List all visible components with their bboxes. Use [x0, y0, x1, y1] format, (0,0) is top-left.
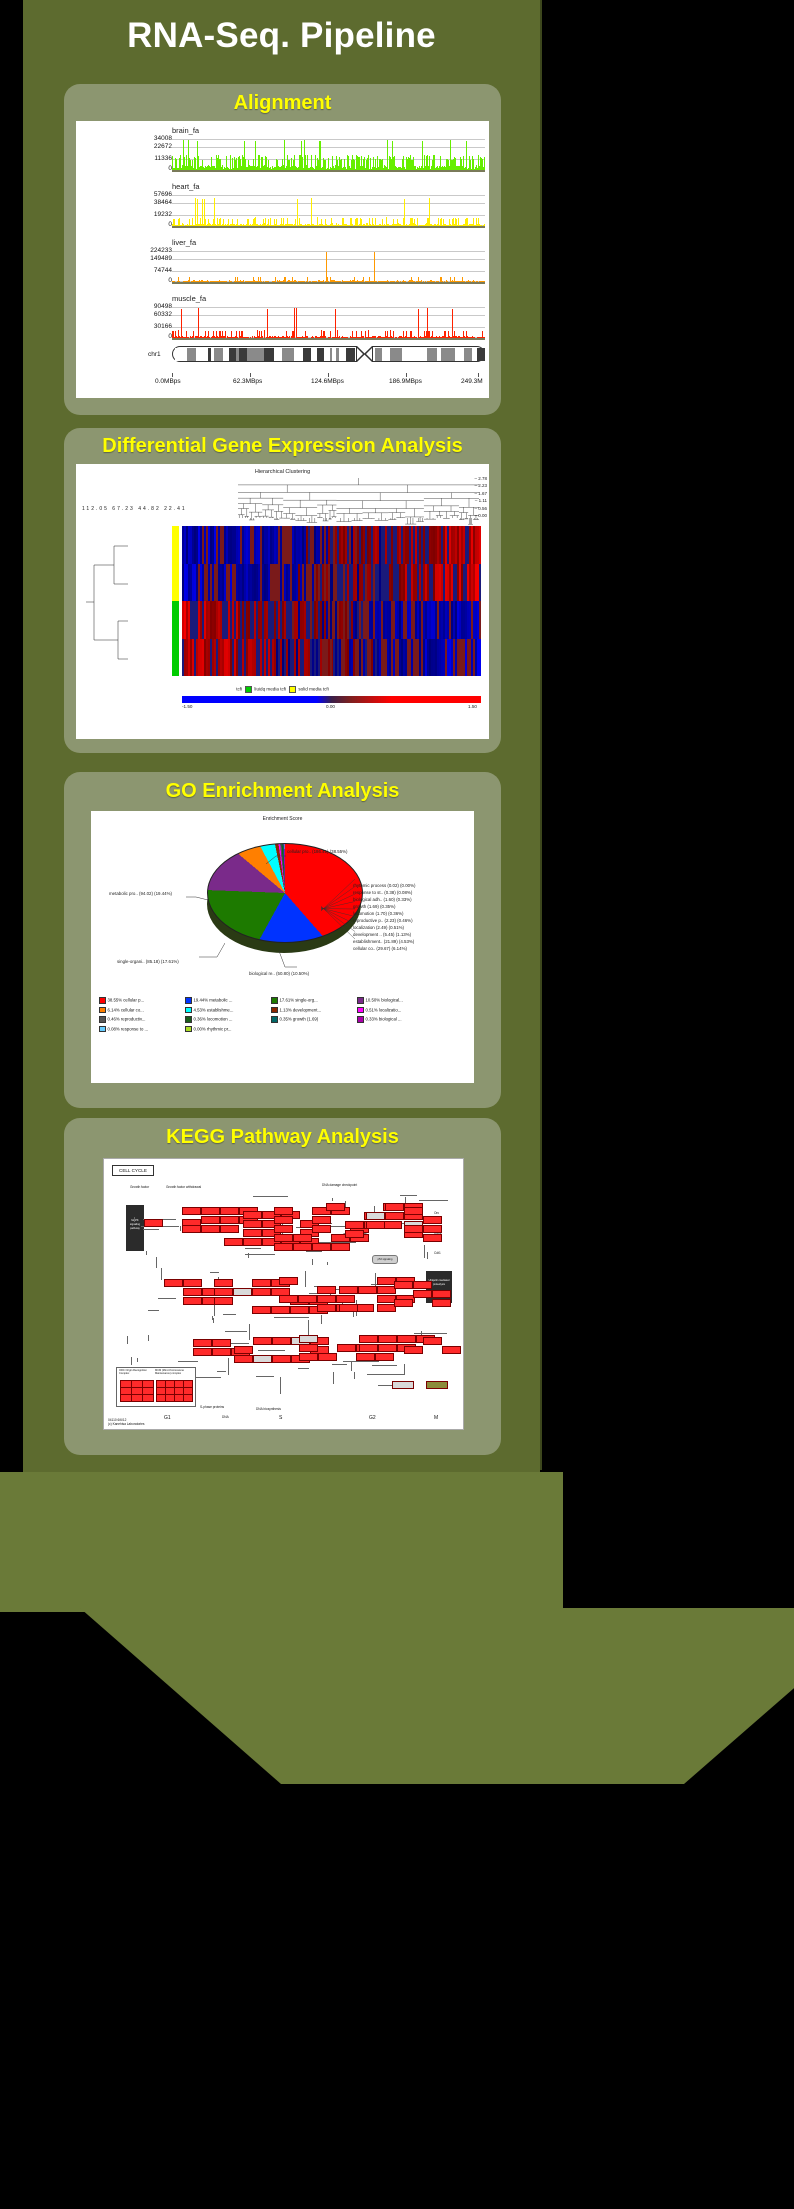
- ideogram-band: [420, 348, 427, 361]
- pie-slice-label: locomotion (1.70) (0.36%): [353, 911, 404, 916]
- pie-slice-label: rhythmic process (0.02) (0.00%): [353, 883, 415, 888]
- pie-slice-label: response to st.. (0.38) (0.08%): [353, 890, 412, 895]
- pie-slice-label: reproductive p.. (2.23) (0.46%): [353, 918, 413, 923]
- axis-tick: [406, 373, 407, 377]
- cellcycle-phase-label: G1: [164, 1415, 171, 1421]
- heatmap-cell: [479, 526, 481, 564]
- pie-slice-label: metabolic pro.. (94.02) (19.44%): [109, 891, 172, 896]
- kegg-gene-node[interactable]: [193, 1339, 212, 1347]
- legend-label: 1.13% development...: [280, 1007, 322, 1012]
- axis-tick: [328, 373, 329, 377]
- kegg-gene-node[interactable]: [383, 1221, 402, 1229]
- pie-slice-label: development .. (5.45) (1.13%): [353, 932, 411, 937]
- legend-label: 0.08% response to ...: [108, 1026, 149, 1031]
- cellcycle-phase-label: M: [434, 1415, 438, 1421]
- heatmap-cell: [479, 564, 481, 602]
- orc-legend-label: ORC Origin Recognition Complex: [119, 1369, 153, 1376]
- kegg-gene-node[interactable]: [274, 1216, 293, 1224]
- dendrogram-scale: – 2.78– 2.23– 1.67– 1.11– 0.56– 0.00: [449, 476, 487, 520]
- legend-item: 17.61% single-org...: [271, 997, 357, 1004]
- coverage-bar: [452, 309, 453, 339]
- kegg-gene-node[interactable]: [423, 1216, 442, 1224]
- group-swatch-solid: [172, 526, 179, 601]
- ideogram-band: [274, 348, 282, 361]
- kegg-gene-node[interactable]: [326, 1203, 345, 1211]
- axis-tick-label: 224233: [150, 247, 172, 254]
- kegg-gene-node[interactable]: [252, 1279, 271, 1287]
- coverage-bar: [311, 198, 312, 226]
- legend-swatch: [245, 686, 252, 693]
- kegg-gene-node[interactable]: [144, 1219, 163, 1227]
- heatmap-row: [182, 526, 481, 564]
- kegg-gene-node[interactable]: [220, 1216, 239, 1224]
- pathway-annotation: DNA: [222, 1415, 229, 1419]
- kegg-gene-node[interactable]: [339, 1286, 358, 1294]
- kegg-gene-node[interactable]: [233, 1288, 252, 1296]
- legend-swatch: [271, 1016, 278, 1023]
- kegg-gene-node[interactable]: [183, 1288, 202, 1296]
- pie-leader-lines: [321, 873, 357, 957]
- ideogram-band: [410, 348, 420, 361]
- legend-label: 6.14% cellular co...: [108, 1007, 144, 1012]
- kegg-gene-node[interactable]: [359, 1335, 378, 1343]
- legend-swatch: [357, 997, 364, 1004]
- kegg-gene-node[interactable]: [274, 1207, 293, 1215]
- kegg-gene-node[interactable]: [312, 1216, 331, 1224]
- kegg-gene-node[interactable]: [193, 1348, 212, 1356]
- ideogram-band: [252, 348, 259, 361]
- coverage-bar: [230, 155, 231, 170]
- pie-legend: 38.55% cellular p...19.44% metabolic ...…: [99, 997, 459, 1035]
- heatmap-legend: tcfi liuidq media tcfi solid media tcfi: [76, 686, 489, 693]
- ideogram-band: [284, 348, 292, 361]
- chromosome-label: chr1: [148, 351, 161, 358]
- axis-tick-label: 22672: [154, 143, 172, 150]
- axis-tick-label: 34008: [154, 135, 172, 142]
- kegg-gene-node[interactable]: [252, 1306, 271, 1314]
- heatmap-cell: [479, 639, 481, 677]
- legend-swatch: [99, 1007, 106, 1014]
- coverage-bars: [172, 195, 485, 226]
- coverage-track-heart-fa: heart_fa5769638464192320: [76, 183, 489, 231]
- ideogram-band: [441, 348, 451, 361]
- coverage-bars: [172, 139, 485, 170]
- kegg-gene-node[interactable]: [317, 1286, 336, 1294]
- legend-item: 19.44% metabolic ...: [185, 997, 271, 1004]
- heatmap-cell: [479, 601, 481, 639]
- pathway-annotation: DNA damage checkpoint: [322, 1183, 357, 1187]
- legend-label: 0.00% rhythmic pr...: [194, 1026, 232, 1031]
- kegg-gene-node[interactable]: [293, 1243, 312, 1251]
- ideogram-band: [214, 348, 223, 361]
- kegg-gene-node[interactable]: [336, 1295, 355, 1303]
- legend-item: 1.13% development...: [271, 1007, 357, 1014]
- pie-title: Enrichment Score: [91, 816, 474, 822]
- kegg-gene-node[interactable]: [404, 1225, 423, 1233]
- kegg-gene-node[interactable]: [331, 1243, 350, 1251]
- leader-line: [186, 889, 208, 897]
- kegg-gene-node[interactable]: [290, 1306, 309, 1314]
- section-title-go: GO Enrichment Analysis: [64, 780, 501, 803]
- coverage-bar: [214, 198, 215, 226]
- cellcycle-phase-label: S: [279, 1415, 282, 1421]
- group-swatch-liquid: [172, 601, 179, 676]
- ideogram-band: [303, 348, 311, 361]
- coverage-bars: [172, 251, 485, 282]
- pie-slice-label: single-organi.. (85.18) (17.61%): [117, 959, 179, 964]
- ideogram-band: [339, 348, 346, 361]
- track-baseline: [172, 226, 485, 228]
- kegg-gene-node[interactable]: [243, 1238, 262, 1246]
- alignment-plot: brain_fa3400822672113360heart_fa57696384…: [76, 121, 489, 398]
- kegg-gene-node[interactable]: [337, 1344, 356, 1352]
- kegg-gene-node[interactable]: [413, 1281, 432, 1289]
- legend-label: tcfi: [236, 687, 243, 692]
- ideogram-band: [393, 348, 402, 361]
- ideogram-band: [427, 348, 437, 361]
- kegg-gene-node[interactable]: [404, 1207, 423, 1215]
- dge-heatmap-plot: Hierarchical Clustering– 2.78– 2.23– 1.6…: [76, 464, 489, 739]
- colorbar-tick: 0.00: [326, 704, 335, 709]
- axis-tick: [172, 373, 173, 377]
- legend-item: 0.33% biological ...: [357, 1016, 443, 1023]
- kegg-gene-node[interactable]: [359, 1344, 378, 1352]
- kegg-gene-node[interactable]: [271, 1306, 290, 1314]
- pie-slice-label: biological re.. (50.80) (10.50%): [249, 971, 309, 976]
- section-go: GO Enrichment Analysis Enrichment Scorec…: [64, 772, 501, 1108]
- axis-tick-label: 149489: [150, 255, 172, 262]
- legend-item: 0.36% locomotion ...: [185, 1016, 271, 1023]
- axis-tick-label: 38464: [154, 199, 172, 206]
- legend-item: 0.00% rhythmic pr...: [185, 1026, 271, 1033]
- legend-item: 0.46% reproductiv...: [99, 1016, 185, 1023]
- scale-tick: – 0.00: [474, 513, 487, 518]
- kegg-gene-node[interactable]: [234, 1355, 253, 1363]
- axis-tick: [250, 373, 251, 377]
- kegg-gene-node[interactable]: [214, 1279, 233, 1287]
- kegg-gene-node[interactable]: [183, 1279, 202, 1287]
- kegg-gene-node[interactable]: [201, 1225, 220, 1233]
- kegg-gene-node[interactable]: [366, 1221, 385, 1229]
- kegg-gene-node[interactable]: [423, 1337, 442, 1345]
- kegg-gene-node[interactable]: [220, 1207, 239, 1215]
- heatmap-row-scale: 112.05 67.23 44.82 22.41: [82, 506, 187, 512]
- heatmap-grid: [182, 526, 481, 676]
- kegg-gene-node[interactable]: [394, 1299, 413, 1307]
- scale-tick: – 2.78: [474, 476, 487, 481]
- pie-slice-label: biological adh.. (1.60) (0.33%): [353, 897, 412, 902]
- legend-item: 0.35% growth (1.69): [271, 1016, 357, 1023]
- kegg-gene-node[interactable]: [212, 1348, 231, 1356]
- coverage-bar: [181, 309, 182, 339]
- kegg-gene-node[interactable]: [272, 1337, 291, 1345]
- arrow-wing-full: [0, 1472, 563, 1612]
- kegg-gene-node[interactable]: [299, 1353, 318, 1361]
- track-label: heart_fa: [172, 182, 200, 191]
- kegg-gene-node[interactable]: [182, 1225, 201, 1233]
- track-baseline: [172, 338, 485, 340]
- kegg-gene-node[interactable]: [397, 1335, 416, 1343]
- ideogram-band: [477, 348, 485, 361]
- axis-tick-label: 11336: [154, 155, 172, 162]
- pathway-link-box[interactable]: p53 signaling pathway: [372, 1255, 398, 1264]
- legend-swatch: [289, 686, 296, 693]
- kegg-gene-node[interactable]: [442, 1346, 461, 1354]
- kegg-gene-node[interactable]: [183, 1394, 193, 1402]
- coverage-bar: [466, 141, 467, 170]
- pathway-annotation: S-phase proteins: [200, 1405, 224, 1409]
- kegg-gene-node[interactable]: [224, 1238, 243, 1246]
- coverage-bar: [255, 141, 256, 171]
- coverage-bar: [374, 252, 375, 282]
- ideogram-band: [455, 348, 464, 361]
- legend-label: 0.33% biological ...: [366, 1016, 402, 1021]
- kegg-gene-node[interactable]: [243, 1229, 262, 1237]
- kegg-gene-node[interactable]: [214, 1288, 233, 1296]
- heatmap-row: [182, 639, 481, 677]
- legend-swatch: [99, 1016, 106, 1023]
- coverage-track-brain-fa: brain_fa3400822672113360: [76, 127, 489, 175]
- kegg-gene-node[interactable]: [243, 1211, 262, 1219]
- heatmap-row: [182, 564, 481, 602]
- ideogram-band: [229, 348, 236, 361]
- kegg-gene-node[interactable]: [274, 1243, 293, 1251]
- legend-swatch: [357, 1007, 364, 1014]
- page-title: RNA-Seq. Pipeline: [23, 0, 540, 72]
- kegg-gene-node[interactable]: [423, 1225, 442, 1233]
- kegg-gene-node[interactable]: [253, 1355, 272, 1363]
- go-pie-plot: Enrichment Scorecellular pro.. (186.41) …: [91, 811, 474, 1083]
- leader-line: [277, 951, 297, 971]
- legend-swatch: [185, 1016, 192, 1023]
- coverage-bar: [197, 199, 198, 226]
- kegg-gene-node[interactable]: [394, 1281, 413, 1289]
- pathway-component-label: Cdt1: [434, 1251, 441, 1255]
- heatmap-title: Hierarchical Clustering: [76, 469, 489, 475]
- track-label: liver_fa: [172, 238, 196, 247]
- coverage-bar: [202, 199, 203, 226]
- axis-tick: [478, 373, 479, 377]
- kegg-gene-node[interactable]: [299, 1344, 318, 1352]
- legend-swatch: [271, 997, 278, 1004]
- kegg-gene-node[interactable]: [345, 1221, 364, 1229]
- cellcycle-phase-label: G2: [369, 1415, 376, 1421]
- pathway-component-label: Orc: [434, 1211, 439, 1215]
- kegg-gene-node[interactable]: [293, 1234, 312, 1242]
- pie-slice-label: localization (2.49) (0.51%): [353, 925, 404, 930]
- kegg-gene-node[interactable]: [214, 1297, 233, 1305]
- mcm-legend-label: MCM (Mini-Chromosome Maintenance) comple…: [155, 1369, 193, 1376]
- axis-label: 249.3M: [461, 378, 483, 385]
- kegg-pathway-map: CELL CYCLEG1SG2MGrowth factorGrowth fact…: [103, 1158, 464, 1430]
- kegg-gene-node[interactable]: [234, 1346, 253, 1354]
- axis-tick-label: 57696: [154, 191, 172, 198]
- axis-label: 62.3MBps: [233, 378, 262, 385]
- pathway-title: CELL CYCLE: [112, 1165, 154, 1176]
- coverage-bar: [418, 309, 419, 338]
- section-dge: Differential Gene Expression Analysis Hi…: [64, 428, 501, 753]
- track-baseline: [172, 282, 485, 284]
- kegg-gene-node[interactable]: [274, 1234, 293, 1242]
- arrow-tip: [80, 1608, 794, 1784]
- kegg-gene-node[interactable]: [298, 1295, 317, 1303]
- kegg-gene-node[interactable]: [385, 1203, 404, 1211]
- kegg-gene-node[interactable]: [358, 1286, 377, 1294]
- coverage-bar: [387, 140, 388, 170]
- legend-swatch: [271, 1007, 278, 1014]
- kegg-gene-node[interactable]: [375, 1353, 394, 1361]
- kegg-copyright: (c) Kanehisa Laboratories: [108, 1422, 145, 1426]
- mapk-pathway-block: MAPK signaling pathway: [126, 1205, 144, 1251]
- legend-item: 0.51% localizatio...: [357, 1007, 443, 1014]
- kegg-olive-node[interactable]: [426, 1381, 448, 1389]
- scale-tick: – 1.67: [474, 491, 487, 496]
- kegg-gene-node[interactable]: [312, 1243, 331, 1251]
- pie-slice-label: establishment.. (21.89) (4.53%): [353, 939, 414, 944]
- legend-label: 19.44% metabolic ...: [194, 997, 233, 1002]
- leader-line: [199, 943, 225, 961]
- coverage-track-muscle-fa: muscle_fa9049860332301660: [76, 295, 489, 343]
- kegg-gray-node[interactable]: [392, 1381, 414, 1389]
- section-kegg: KEGG Pathway Analysis CELL CYCLEG1SG2MGr…: [64, 1118, 501, 1455]
- kegg-gene-node[interactable]: [317, 1304, 336, 1312]
- coverage-bar: [267, 309, 268, 339]
- kegg-gene-node[interactable]: [279, 1295, 298, 1303]
- centromere-icon: [355, 346, 374, 362]
- coverage-bar: [484, 157, 485, 171]
- kegg-gene-node[interactable]: [243, 1220, 262, 1228]
- genome-axis: 0.0MBps62.3MBps124.6MBps186.9MBps249.3M: [76, 373, 489, 391]
- leader-line: [266, 851, 286, 861]
- kegg-footer: 04110 6/6/12(c) Kanehisa Laboratories: [108, 1418, 145, 1426]
- kegg-gene-node[interactable]: [212, 1339, 231, 1347]
- kegg-gene-node[interactable]: [220, 1225, 239, 1233]
- kegg-gene-node[interactable]: [432, 1290, 451, 1298]
- chromosome-bands: [172, 346, 485, 362]
- kegg-gene-node[interactable]: [252, 1288, 271, 1296]
- row-dendrogram: [84, 526, 134, 676]
- pathway-annotation: Growth factor: [130, 1185, 149, 1189]
- legend-item: 0.08% response to ...: [99, 1026, 185, 1033]
- kegg-gene-node[interactable]: [366, 1212, 385, 1220]
- kegg-gene-node[interactable]: [339, 1304, 358, 1312]
- legend-label: 0.35% growth (1.69): [280, 1016, 319, 1021]
- ideogram-band: [294, 348, 303, 361]
- kegg-gene-node[interactable]: [378, 1335, 397, 1343]
- kegg-gene-node[interactable]: [432, 1299, 451, 1307]
- kegg-gene-node[interactable]: [274, 1225, 293, 1233]
- kegg-gene-node[interactable]: [318, 1353, 337, 1361]
- axis-tick-label: 74744: [154, 267, 172, 274]
- ideogram-band: [346, 348, 355, 361]
- legend-swatch: [185, 1007, 192, 1014]
- axis-label: 186.9MBps: [389, 378, 422, 385]
- kegg-gene-node[interactable]: [279, 1277, 298, 1285]
- colorbar-tick: -1.50: [182, 704, 192, 709]
- legend-label: 10.50% biological...: [366, 997, 403, 1002]
- kegg-gene-node[interactable]: [201, 1216, 220, 1224]
- kegg-gene-node[interactable]: [201, 1207, 220, 1215]
- kegg-gene-node[interactable]: [164, 1279, 183, 1287]
- group-color-column: [172, 526, 179, 676]
- coverage-bar: [335, 309, 336, 338]
- kegg-gene-node[interactable]: [142, 1394, 154, 1402]
- section-title-dge: Differential Gene Expression Analysis: [64, 435, 501, 458]
- legend-swatch: [99, 997, 106, 1004]
- coverage-bar: [297, 199, 298, 227]
- kegg-gene-node[interactable]: [378, 1344, 397, 1352]
- coverage-track-liver-fa: liver_fa224233149489747440: [76, 239, 489, 287]
- column-dendrogram: [236, 476, 481, 518]
- kegg-gene-node[interactable]: [404, 1346, 423, 1354]
- coverage-bar: [296, 308, 297, 338]
- kegg-gene-node[interactable]: [182, 1207, 201, 1215]
- kegg-gene-node[interactable]: [299, 1335, 318, 1343]
- legend-swatch: [99, 1026, 106, 1033]
- pathway-annotation: Growth factor withdrawal: [166, 1185, 201, 1189]
- kegg-gene-node[interactable]: [423, 1234, 442, 1242]
- kegg-complex-legend: ORC Origin Recognition ComplexMCM (Mini-…: [116, 1367, 196, 1407]
- legend-item: 4.53% establishme...: [185, 1007, 271, 1014]
- kegg-gene-node[interactable]: [385, 1212, 404, 1220]
- coverage-bar: [422, 141, 423, 171]
- legend-label: 0.36% locomotion ...: [194, 1016, 233, 1021]
- ideogram-band: [196, 348, 203, 361]
- coverage-bar: [320, 141, 321, 170]
- chromosome-p-arm: [172, 346, 357, 362]
- track-label: muscle_fa: [172, 294, 206, 303]
- ideogram-band: [402, 348, 410, 361]
- kegg-gene-node[interactable]: [272, 1355, 291, 1363]
- chromosome-ideogram: chr1: [76, 344, 489, 370]
- section-alignment: Alignment brain_fa3400822672113360heart_…: [64, 84, 501, 415]
- axis-tick-label: 19232: [154, 211, 172, 218]
- section-title-kegg: KEGG Pathway Analysis: [64, 1126, 501, 1149]
- axis-tick-label: 30166: [154, 323, 172, 330]
- axis-label: 0.0MBps: [155, 378, 181, 385]
- coverage-bar: [195, 198, 196, 226]
- ideogram-band: [317, 348, 324, 361]
- pie-slice-label: growth (1.69) (0.35%): [353, 904, 395, 909]
- track-baseline: [172, 170, 485, 172]
- legend-swatch: [185, 1026, 192, 1033]
- legend-item: 6.14% cellular co...: [99, 1007, 185, 1014]
- scale-tick: – 2.23: [474, 483, 487, 488]
- kegg-gene-node[interactable]: [413, 1290, 432, 1298]
- kegg-gene-node[interactable]: [356, 1353, 375, 1361]
- scale-tick: – 0.56: [474, 506, 487, 511]
- coverage-bar: [198, 308, 199, 338]
- coverage-bars: [172, 307, 485, 338]
- colorbar-tick: 1.50: [468, 704, 477, 709]
- kegg-gene-node[interactable]: [253, 1337, 272, 1345]
- axis-label: 124.6MBps: [311, 378, 344, 385]
- heatmap-colorbar: [182, 696, 481, 703]
- legend-label: liuidq media tcfi: [254, 687, 287, 692]
- kegg-gene-node[interactable]: [312, 1225, 331, 1233]
- ideogram-band: [264, 348, 274, 361]
- legend-label: 0.51% localizatio...: [366, 1007, 402, 1012]
- legend-label: 17.61% single-org...: [280, 997, 318, 1002]
- chromosome-q-arm: [372, 346, 485, 362]
- kegg-gene-node[interactable]: [345, 1230, 364, 1238]
- kegg-gene-node[interactable]: [317, 1295, 336, 1303]
- pie-slice-label: cellular co.. (29.67) (6.14%): [353, 946, 407, 951]
- kegg-gene-node[interactable]: [183, 1297, 202, 1305]
- coverage-bar: [404, 199, 405, 226]
- pie-slice-label: cellular pro.. (186.41) (38.55%): [287, 849, 348, 854]
- legend-item: 38.55% cellular p...: [99, 997, 185, 1004]
